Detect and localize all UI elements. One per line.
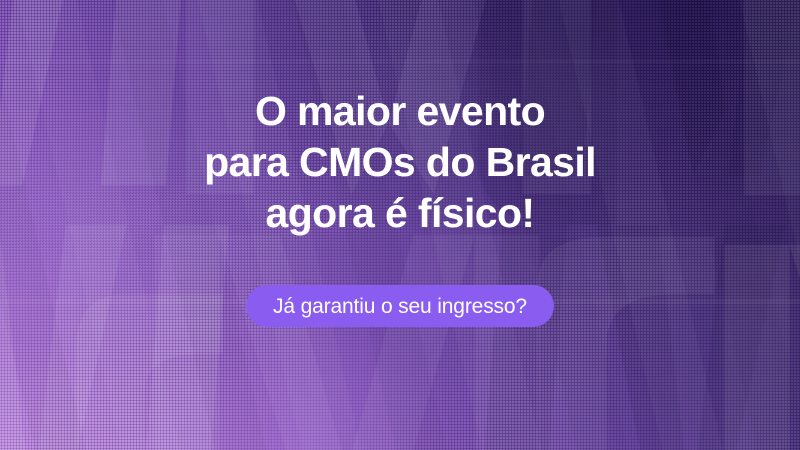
headline-line-2: para CMOs do Brasil [204,137,596,188]
headline-line-1: O maior evento [204,86,596,137]
banner-content: O maior evento para CMOs do Brasil agora… [0,0,800,450]
promo-banner: O maior evento para CMOs do Brasil agora… [0,0,800,450]
buy-ticket-cta-button[interactable]: Já garantiu o seu ingresso? [246,285,554,327]
headline-line-3: agora é físico! [204,188,596,239]
cta-container: Já garantiu o seu ingresso? [246,285,554,327]
headline: O maior evento para CMOs do Brasil agora… [204,86,596,239]
